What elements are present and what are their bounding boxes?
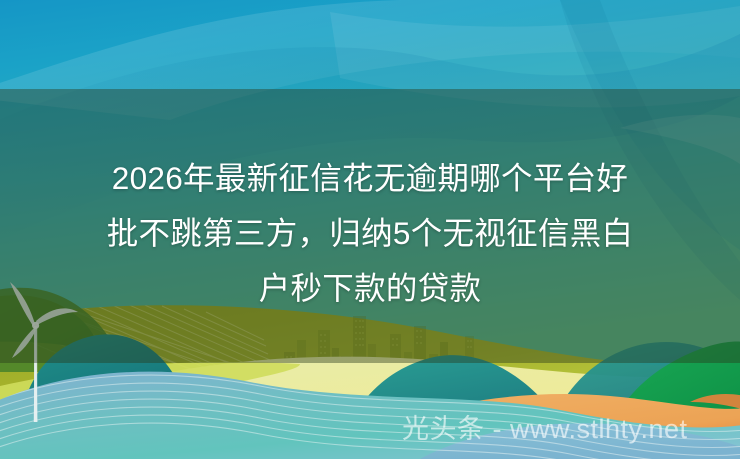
page-title: 2026年最新征信花无逾期哪个平台好 批不跳第三方，归纳5个无视征信黑白 户秒下… bbox=[0, 151, 740, 316]
turbine-hub bbox=[32, 322, 39, 329]
promo-banner: 2026年最新征信花无逾期哪个平台好 批不跳第三方，归纳5个无视征信黑白 户秒下… bbox=[0, 0, 740, 459]
watermark: 光头条 - www.stlhty.net bbox=[402, 414, 688, 444]
